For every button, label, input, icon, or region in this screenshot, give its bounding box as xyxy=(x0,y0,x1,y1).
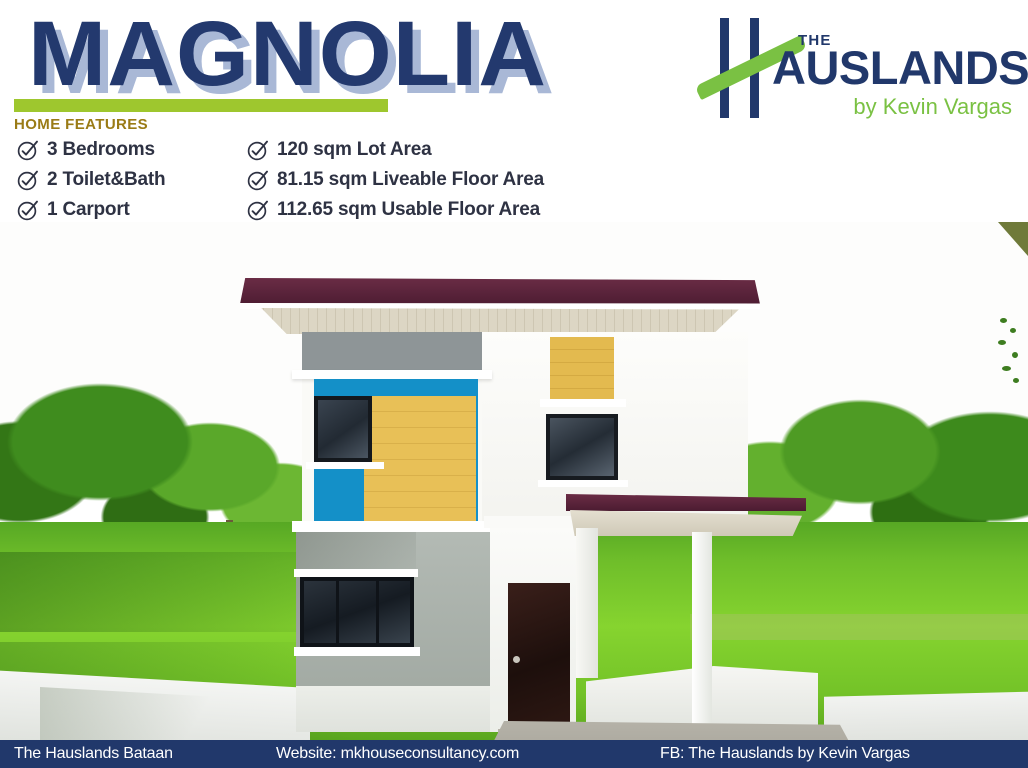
feature-label: 2 Toilet&Bath xyxy=(47,169,165,191)
perimeter-wall-shadow xyxy=(40,687,220,740)
door-knob-icon[interactable] xyxy=(513,656,520,663)
header: MAGNOLIA HOME FEATURES THE AUSLANDS by K… xyxy=(0,0,1028,140)
check-circle-icon xyxy=(246,198,270,222)
roof-gutter xyxy=(240,303,760,309)
storey-divider xyxy=(292,521,492,532)
foliage-sprig xyxy=(996,312,1022,392)
footer-facebook[interactable]: FB: The Hauslands by Kevin Vargas xyxy=(660,745,910,763)
check-circle-icon xyxy=(16,198,40,222)
carport-fascia xyxy=(566,494,806,511)
marketing-flyer: MAGNOLIA HOME FEATURES THE AUSLANDS by K… xyxy=(0,0,1028,768)
section-label: HOME FEATURES xyxy=(14,116,148,133)
ground-floor-base xyxy=(296,686,490,732)
yellow-slat-panel-upper xyxy=(550,337,614,399)
feature-item: 3 Bedrooms xyxy=(16,138,182,162)
window-ledge xyxy=(540,399,626,407)
check-circle-icon xyxy=(246,168,270,192)
check-circle-icon xyxy=(16,168,40,192)
feature-label: 120 sqm Lot Area xyxy=(277,139,432,161)
check-circle-icon xyxy=(16,138,40,162)
house-photo xyxy=(0,222,1028,740)
yellow-slat-panel-main xyxy=(364,396,476,521)
title-wrap: MAGNOLIA xyxy=(28,8,537,100)
window-ledge xyxy=(292,370,492,379)
feature-label: 1 Carport xyxy=(47,199,130,221)
feature-label: 81.15 sqm Liveable Floor Area xyxy=(277,169,544,191)
carport-soffit xyxy=(570,510,802,536)
check-circle-icon xyxy=(246,138,270,162)
roof-fascia xyxy=(240,278,760,304)
window-sill xyxy=(294,647,420,656)
carport-column xyxy=(692,532,712,734)
features-right-column: 120 sqm Lot Area 81.15 sqm Liveable Floo… xyxy=(246,138,544,228)
feature-item: 112.65 sqm Usable Floor Area xyxy=(246,198,544,222)
logo-byline-text: by Kevin Vargas xyxy=(853,94,1012,120)
window-sill xyxy=(306,462,384,469)
footer-bar: The Hauslands Bataan Website: mkhousecon… xyxy=(0,740,1028,768)
feature-item: 120 sqm Lot Area xyxy=(246,138,544,162)
upper-right-window xyxy=(546,414,618,480)
feature-label: 3 Bedrooms xyxy=(47,139,155,161)
feature-item: 1 Carport xyxy=(16,198,182,222)
model-house xyxy=(236,266,856,740)
brand-logo[interactable]: THE AUSLANDS by Kevin Vargas xyxy=(706,14,1014,118)
window-sill xyxy=(538,480,628,487)
footer-website[interactable]: Website: mkhouseconsultancy.com xyxy=(276,745,519,763)
page-title: MAGNOLIA xyxy=(28,8,547,100)
feature-item: 81.15 sqm Liveable Floor Area xyxy=(246,168,544,192)
window-header xyxy=(294,569,418,577)
roof-soffit xyxy=(246,308,754,334)
window-mullion xyxy=(336,577,339,647)
feature-label: 112.65 sqm Usable Floor Area xyxy=(277,199,540,221)
accent-bar xyxy=(14,99,388,112)
logo-name-text: AUSLANDS xyxy=(772,44,1028,91)
ground-floor-window xyxy=(300,577,414,647)
footer-location: The Hauslands Bataan xyxy=(14,745,173,763)
window-mullion xyxy=(376,577,379,647)
upper-left-window xyxy=(314,396,372,462)
carport-column xyxy=(576,528,598,678)
feature-item: 2 Toilet&Bath xyxy=(16,168,182,192)
